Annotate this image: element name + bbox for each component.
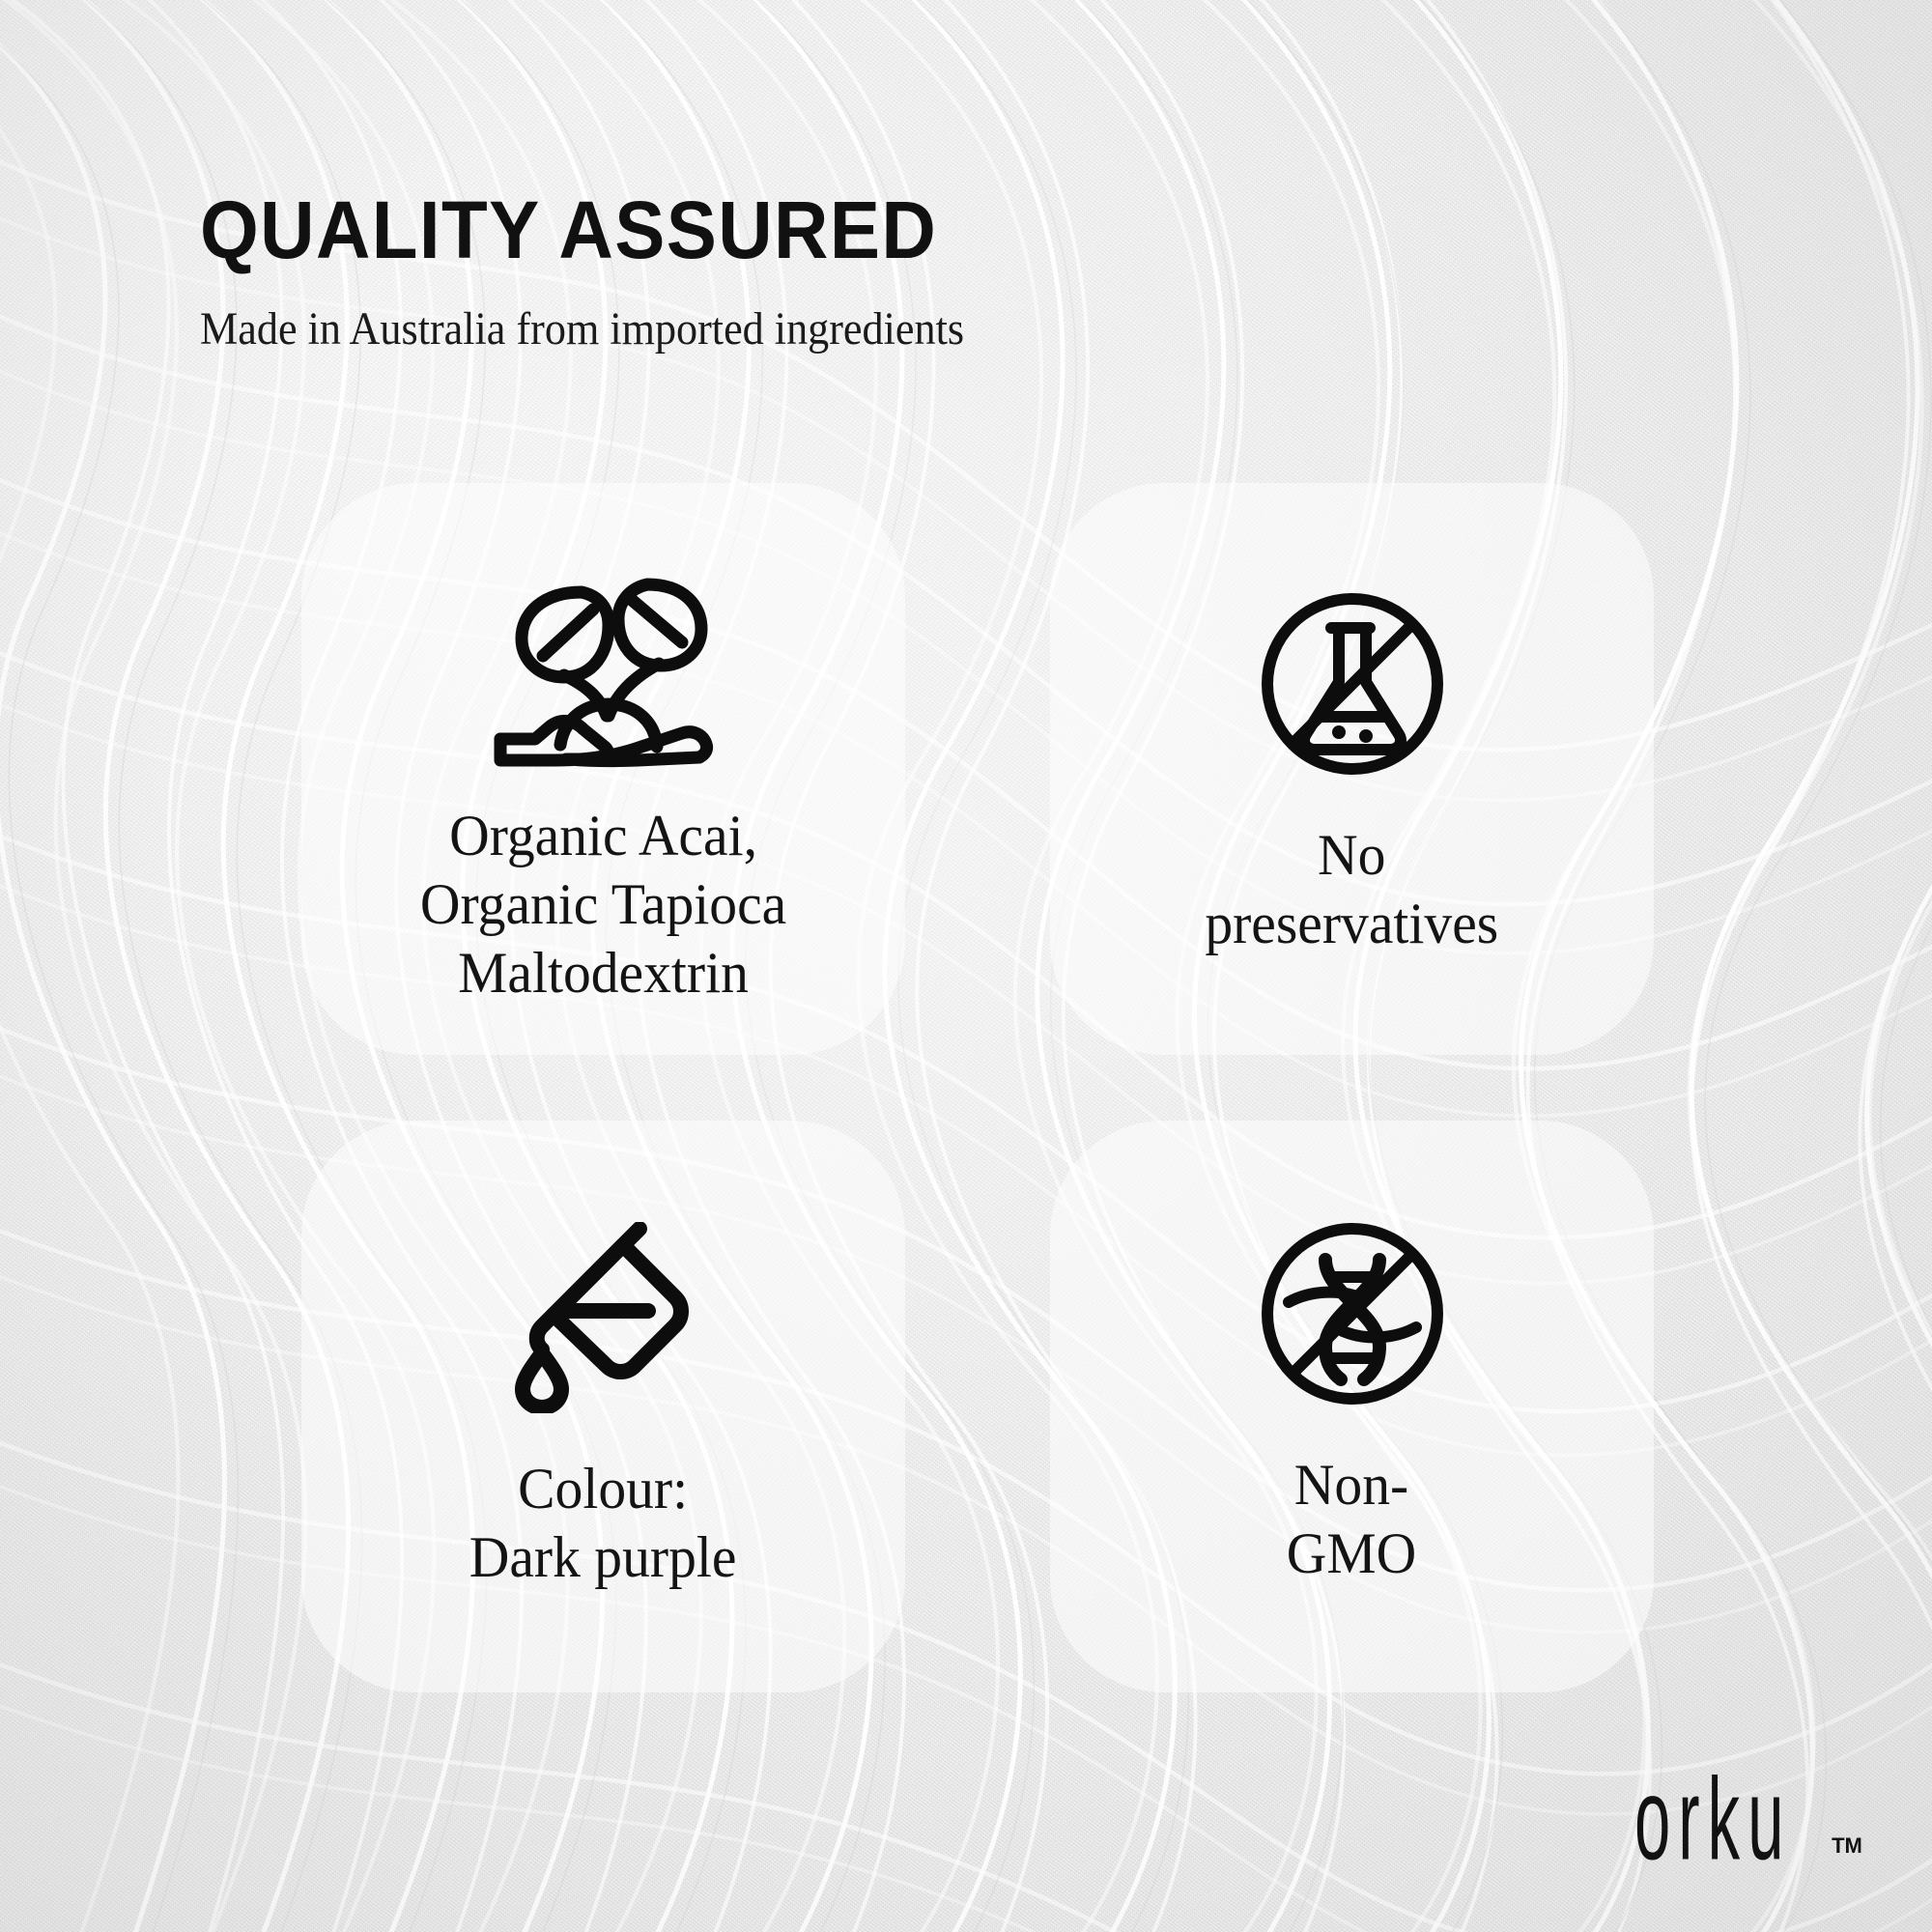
feature-card-label: Organic Acai, Organic Tapioca Maltodextr…: [420, 802, 786, 1007]
poster-content: QUALITY ASSURED Made in Australia from i…: [0, 0, 1932, 1932]
no-gmo-dna-icon: [1256, 1202, 1449, 1426]
feature-card-label: Non- GMO: [1287, 1451, 1416, 1588]
trademark-symbol: TM: [1832, 1833, 1862, 1859]
feature-card-organic-ingredients: Organic Acai, Organic Tapioca Maltodextr…: [301, 483, 905, 1055]
page-title: QUALITY ASSURED: [200, 189, 937, 270]
brand-wordmark: orku: [1634, 1764, 1791, 1874]
feature-card-no-preservatives: No preservatives: [1050, 483, 1654, 1055]
brand-logo: orku TM: [1634, 1776, 1862, 1874]
feature-card-grid: Organic Acai, Organic Tapioca Maltodextr…: [301, 483, 1654, 1692]
plant-in-hand-icon: [493, 547, 715, 777]
no-chemicals-flask-icon: [1258, 572, 1447, 796]
feature-card-label: No preservatives: [1206, 821, 1499, 958]
paint-bucket-icon: [507, 1206, 700, 1430]
poster-canvas: QUALITY ASSURED Made in Australia from i…: [0, 0, 1932, 1932]
feature-card-non-gmo: Non- GMO: [1050, 1121, 1654, 1692]
feature-card-label: Colour: Dark purple: [469, 1455, 737, 1592]
feature-card-colour: Colour: Dark purple: [301, 1121, 905, 1692]
page-subtitle: Made in Australia from imported ingredie…: [200, 304, 964, 355]
